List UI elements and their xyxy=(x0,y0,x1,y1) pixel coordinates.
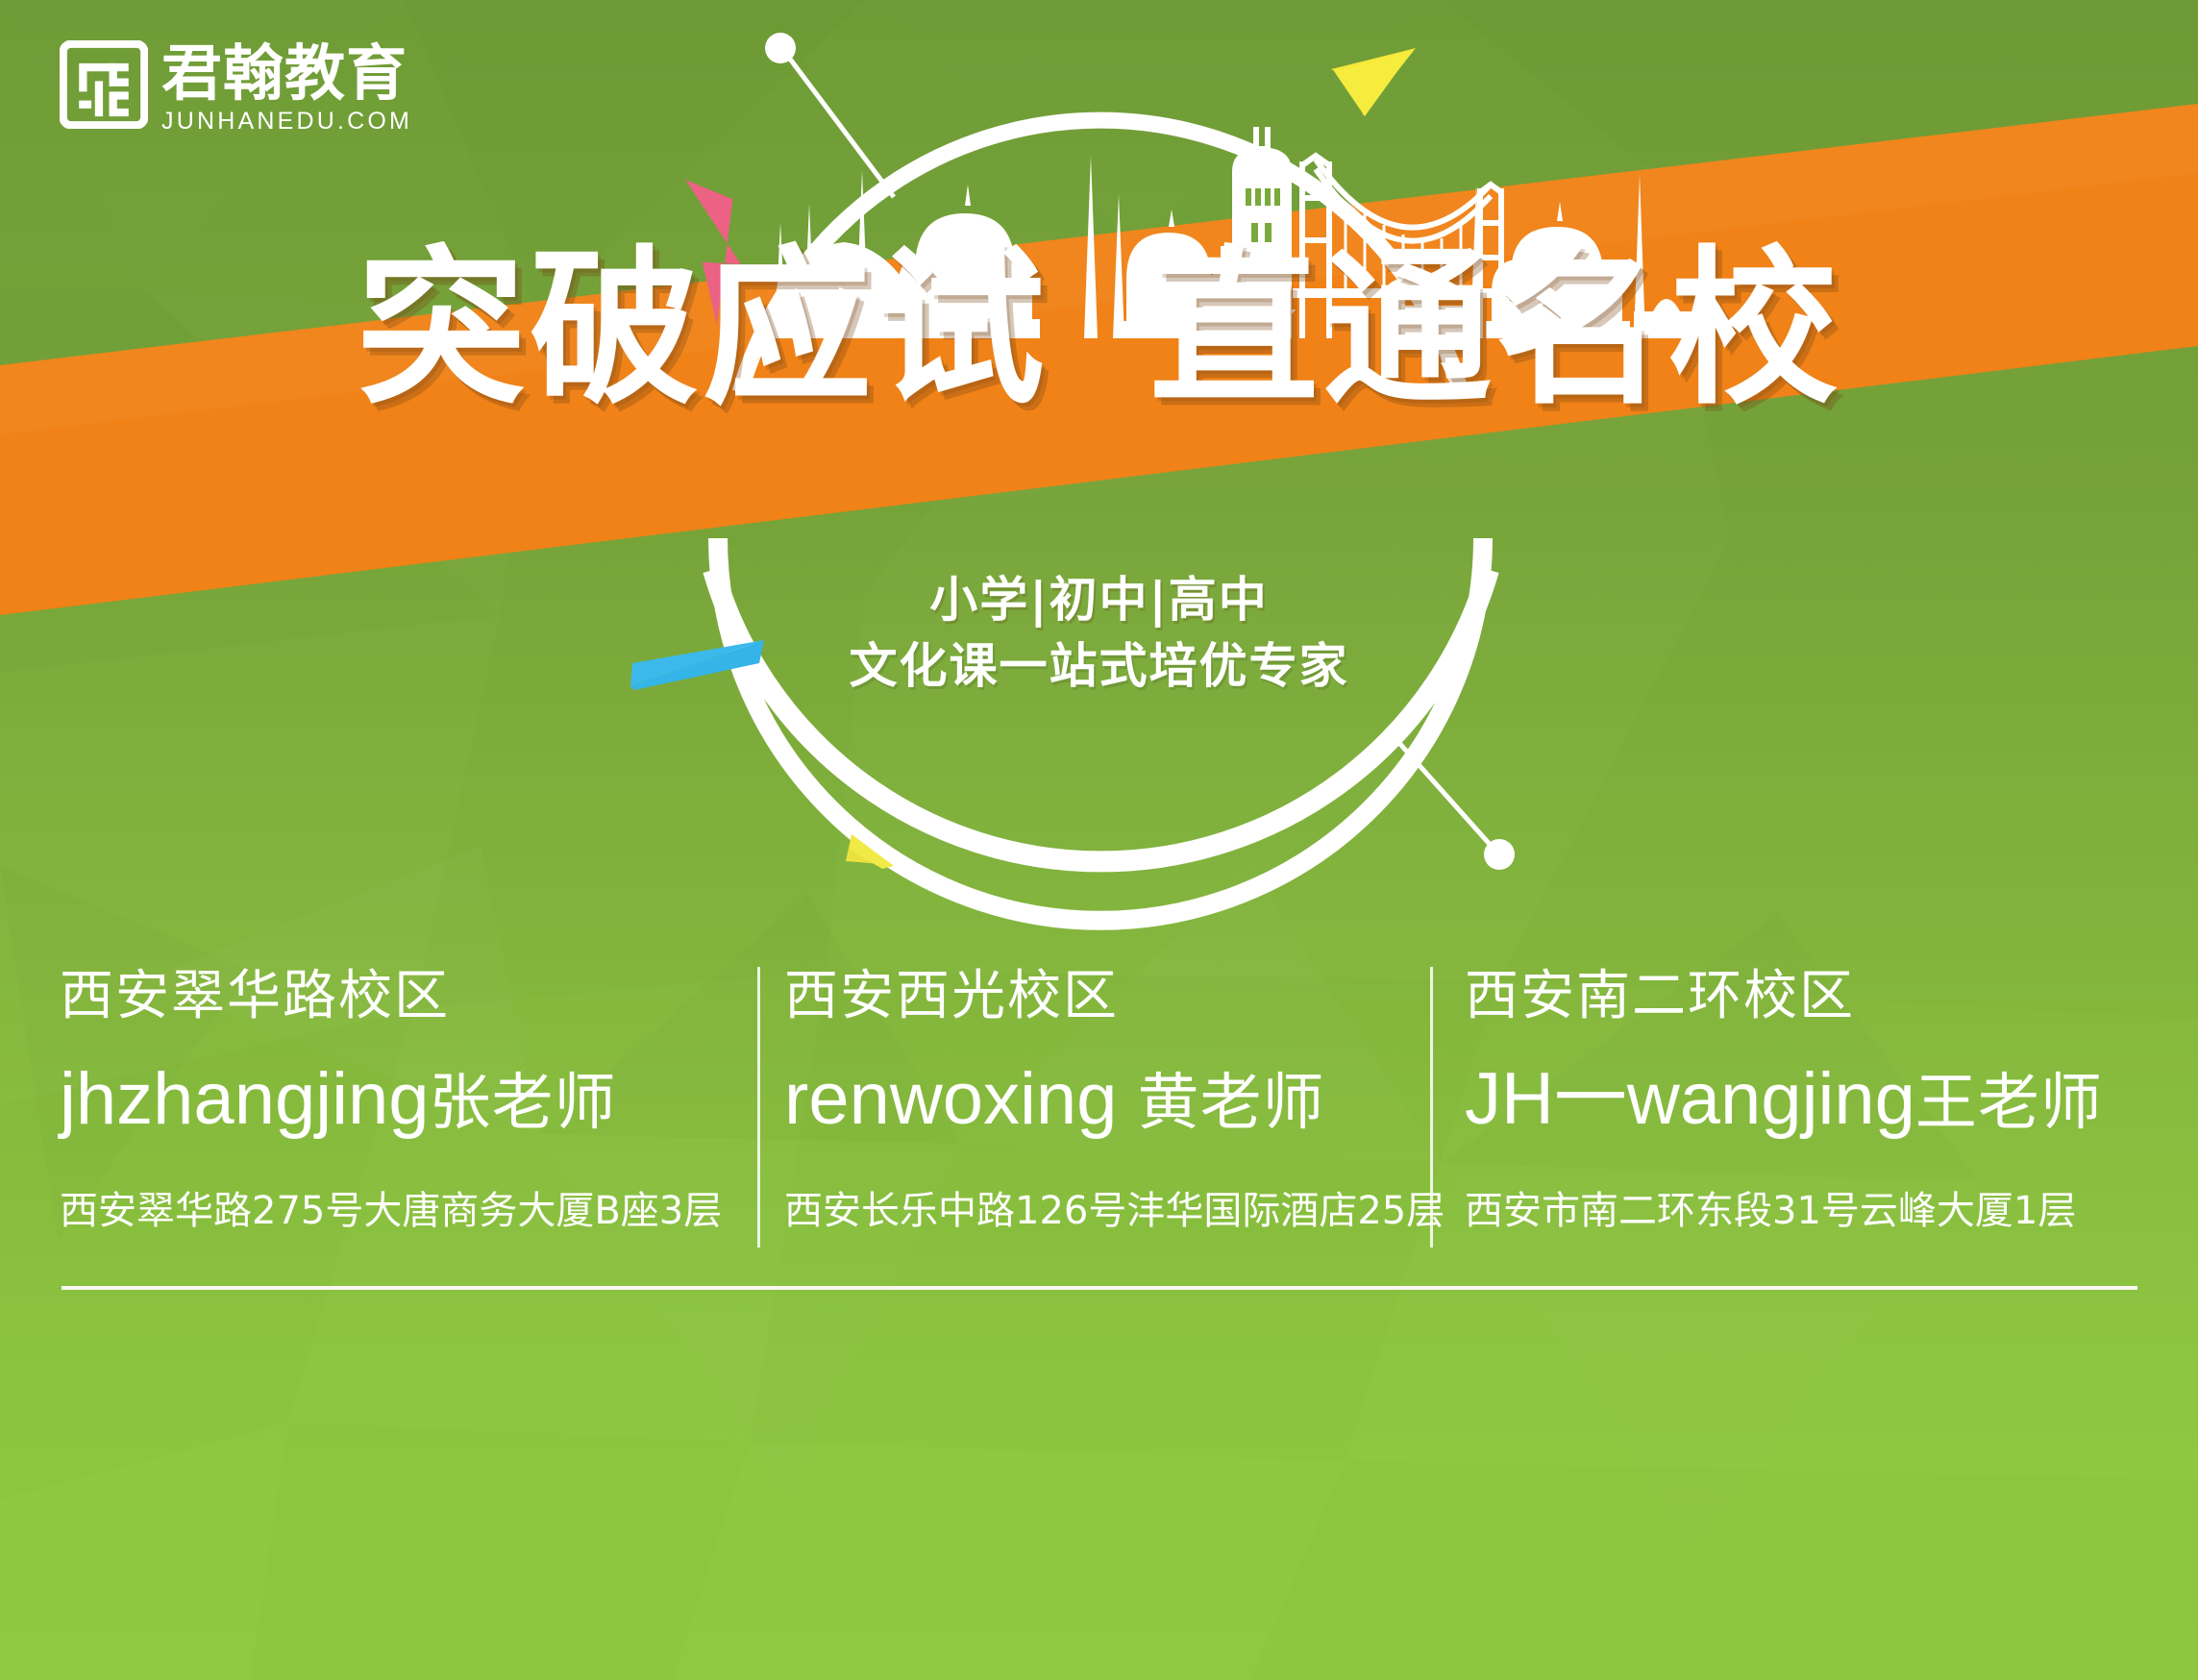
subtitle-grades: 小学|初中|高中 xyxy=(0,570,2198,630)
junhan-seal-icon xyxy=(60,40,148,129)
wechat-line: JH一wangjing王老师 xyxy=(1465,1048,2138,1155)
brand-url: JUNHANEDU.COM xyxy=(161,108,412,135)
wechat-id[interactable]: jhzhangjing xyxy=(60,1058,430,1140)
wechat-line: renwoxing 黄老师 xyxy=(784,1048,1407,1155)
campus-address: 西安长乐中路126号沣华国际酒店25层 xyxy=(784,1184,1407,1238)
wechat-id[interactable]: JH一wangjing xyxy=(1465,1058,1915,1140)
campus-address: 西安市南二环东段31号云峰大厦1层 xyxy=(1465,1184,2138,1238)
bottom-divider xyxy=(62,1286,2137,1290)
campus-name: 西安西光校区 xyxy=(784,961,1407,1032)
pink-arrow-icon xyxy=(646,180,760,327)
poster-canvas: 君翰教育 JUNHANEDU.COM 突破应试 直通名校 小学|初中|高中 文化… xyxy=(0,0,2198,1680)
teacher-name: 王老师 xyxy=(1915,1068,2103,1139)
brand-logo: 君翰教育 JUNHANEDU.COM xyxy=(60,40,412,135)
teacher-name: 黄老师 xyxy=(1138,1068,1325,1139)
subtitle-slogan: 文化课一站式培优专家 xyxy=(0,635,2198,697)
yellow-triangle-icon-b xyxy=(850,834,894,869)
wechat-line: jhzhangjing张老师 xyxy=(60,1048,734,1155)
decor-shapes xyxy=(0,0,2198,1680)
column-divider xyxy=(1430,967,1433,1248)
subtitle-block: 小学|初中|高中 文化课一站式培优专家 xyxy=(0,570,2198,697)
wechat-id[interactable]: renwoxing xyxy=(784,1058,1117,1140)
contact-column-3: 西安南二环校区 JH一wangjing王老师 西安市南二环东段31号云峰大厦1层 xyxy=(1430,961,2138,1238)
contact-column-1: 西安翠华路校区 jhzhangjing张老师 西安翠华路275号大唐商务大厦B座… xyxy=(60,961,757,1238)
campus-name: 西安翠华路校区 xyxy=(60,961,734,1032)
contacts-row: 西安翠华路校区 jhzhangjing张老师 西安翠华路275号大唐商务大厦B座… xyxy=(60,961,2138,1238)
contact-column-2: 西安西光校区 renwoxing 黄老师 西安长乐中路126号沣华国际酒店25层 xyxy=(757,961,1430,1238)
campus-address: 西安翠华路275号大唐商务大厦B座3层 xyxy=(60,1184,734,1238)
brand-name: 君翰教育 xyxy=(161,42,412,106)
teacher-name: 张老师 xyxy=(430,1068,617,1139)
campus-name: 西安南二环校区 xyxy=(1465,961,2138,1032)
column-divider xyxy=(757,967,760,1248)
